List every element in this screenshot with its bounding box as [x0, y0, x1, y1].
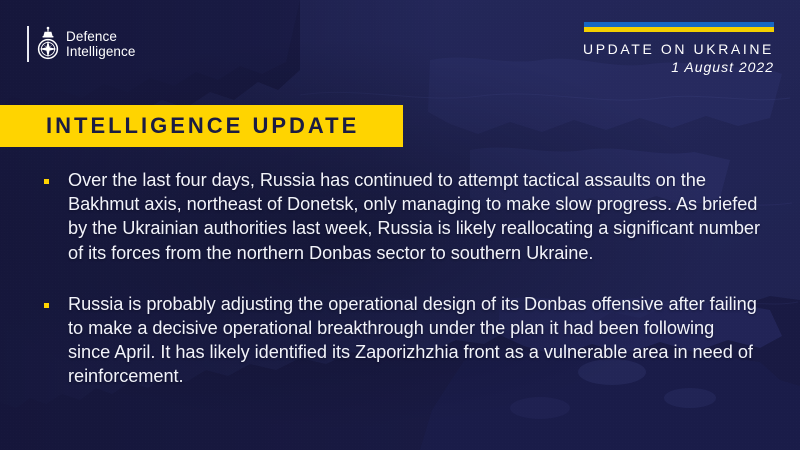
bullet-marker-icon [44, 179, 49, 184]
update-date: 1 August 2022 [583, 58, 774, 76]
logo-line-intelligence: Intelligence [66, 44, 136, 60]
logo-divider-rule [27, 26, 29, 62]
bullet-list: Over the last four days, Russia has cont… [44, 168, 760, 389]
logo-wordmark: Defence Intelligence [66, 29, 136, 60]
list-item: Over the last four days, Russia has cont… [44, 168, 760, 265]
intelligence-update-slide: Defence Intelligence UPDATE ON UKRAINE 1… [0, 0, 800, 450]
flag-stripe-yellow [584, 27, 774, 32]
banner-title: INTELLIGENCE UPDATE [46, 113, 359, 139]
bullet-paragraph-2: Russia is probably adjusting the operati… [68, 292, 760, 389]
update-header: UPDATE ON UKRAINE 1 August 2022 [583, 22, 774, 76]
defence-intelligence-crest-icon [37, 25, 59, 63]
defence-intelligence-logo: Defence Intelligence [27, 22, 136, 66]
bullet-marker-icon [44, 303, 49, 308]
list-item: Russia is probably adjusting the operati… [44, 292, 760, 389]
update-on-ukraine-label: UPDATE ON UKRAINE [583, 41, 774, 58]
ukraine-flag-bar-icon [584, 22, 774, 32]
logo-line-defence: Defence [66, 29, 136, 45]
intelligence-update-banner: INTELLIGENCE UPDATE [0, 105, 403, 147]
bullet-paragraph-1: Over the last four days, Russia has cont… [68, 168, 760, 265]
